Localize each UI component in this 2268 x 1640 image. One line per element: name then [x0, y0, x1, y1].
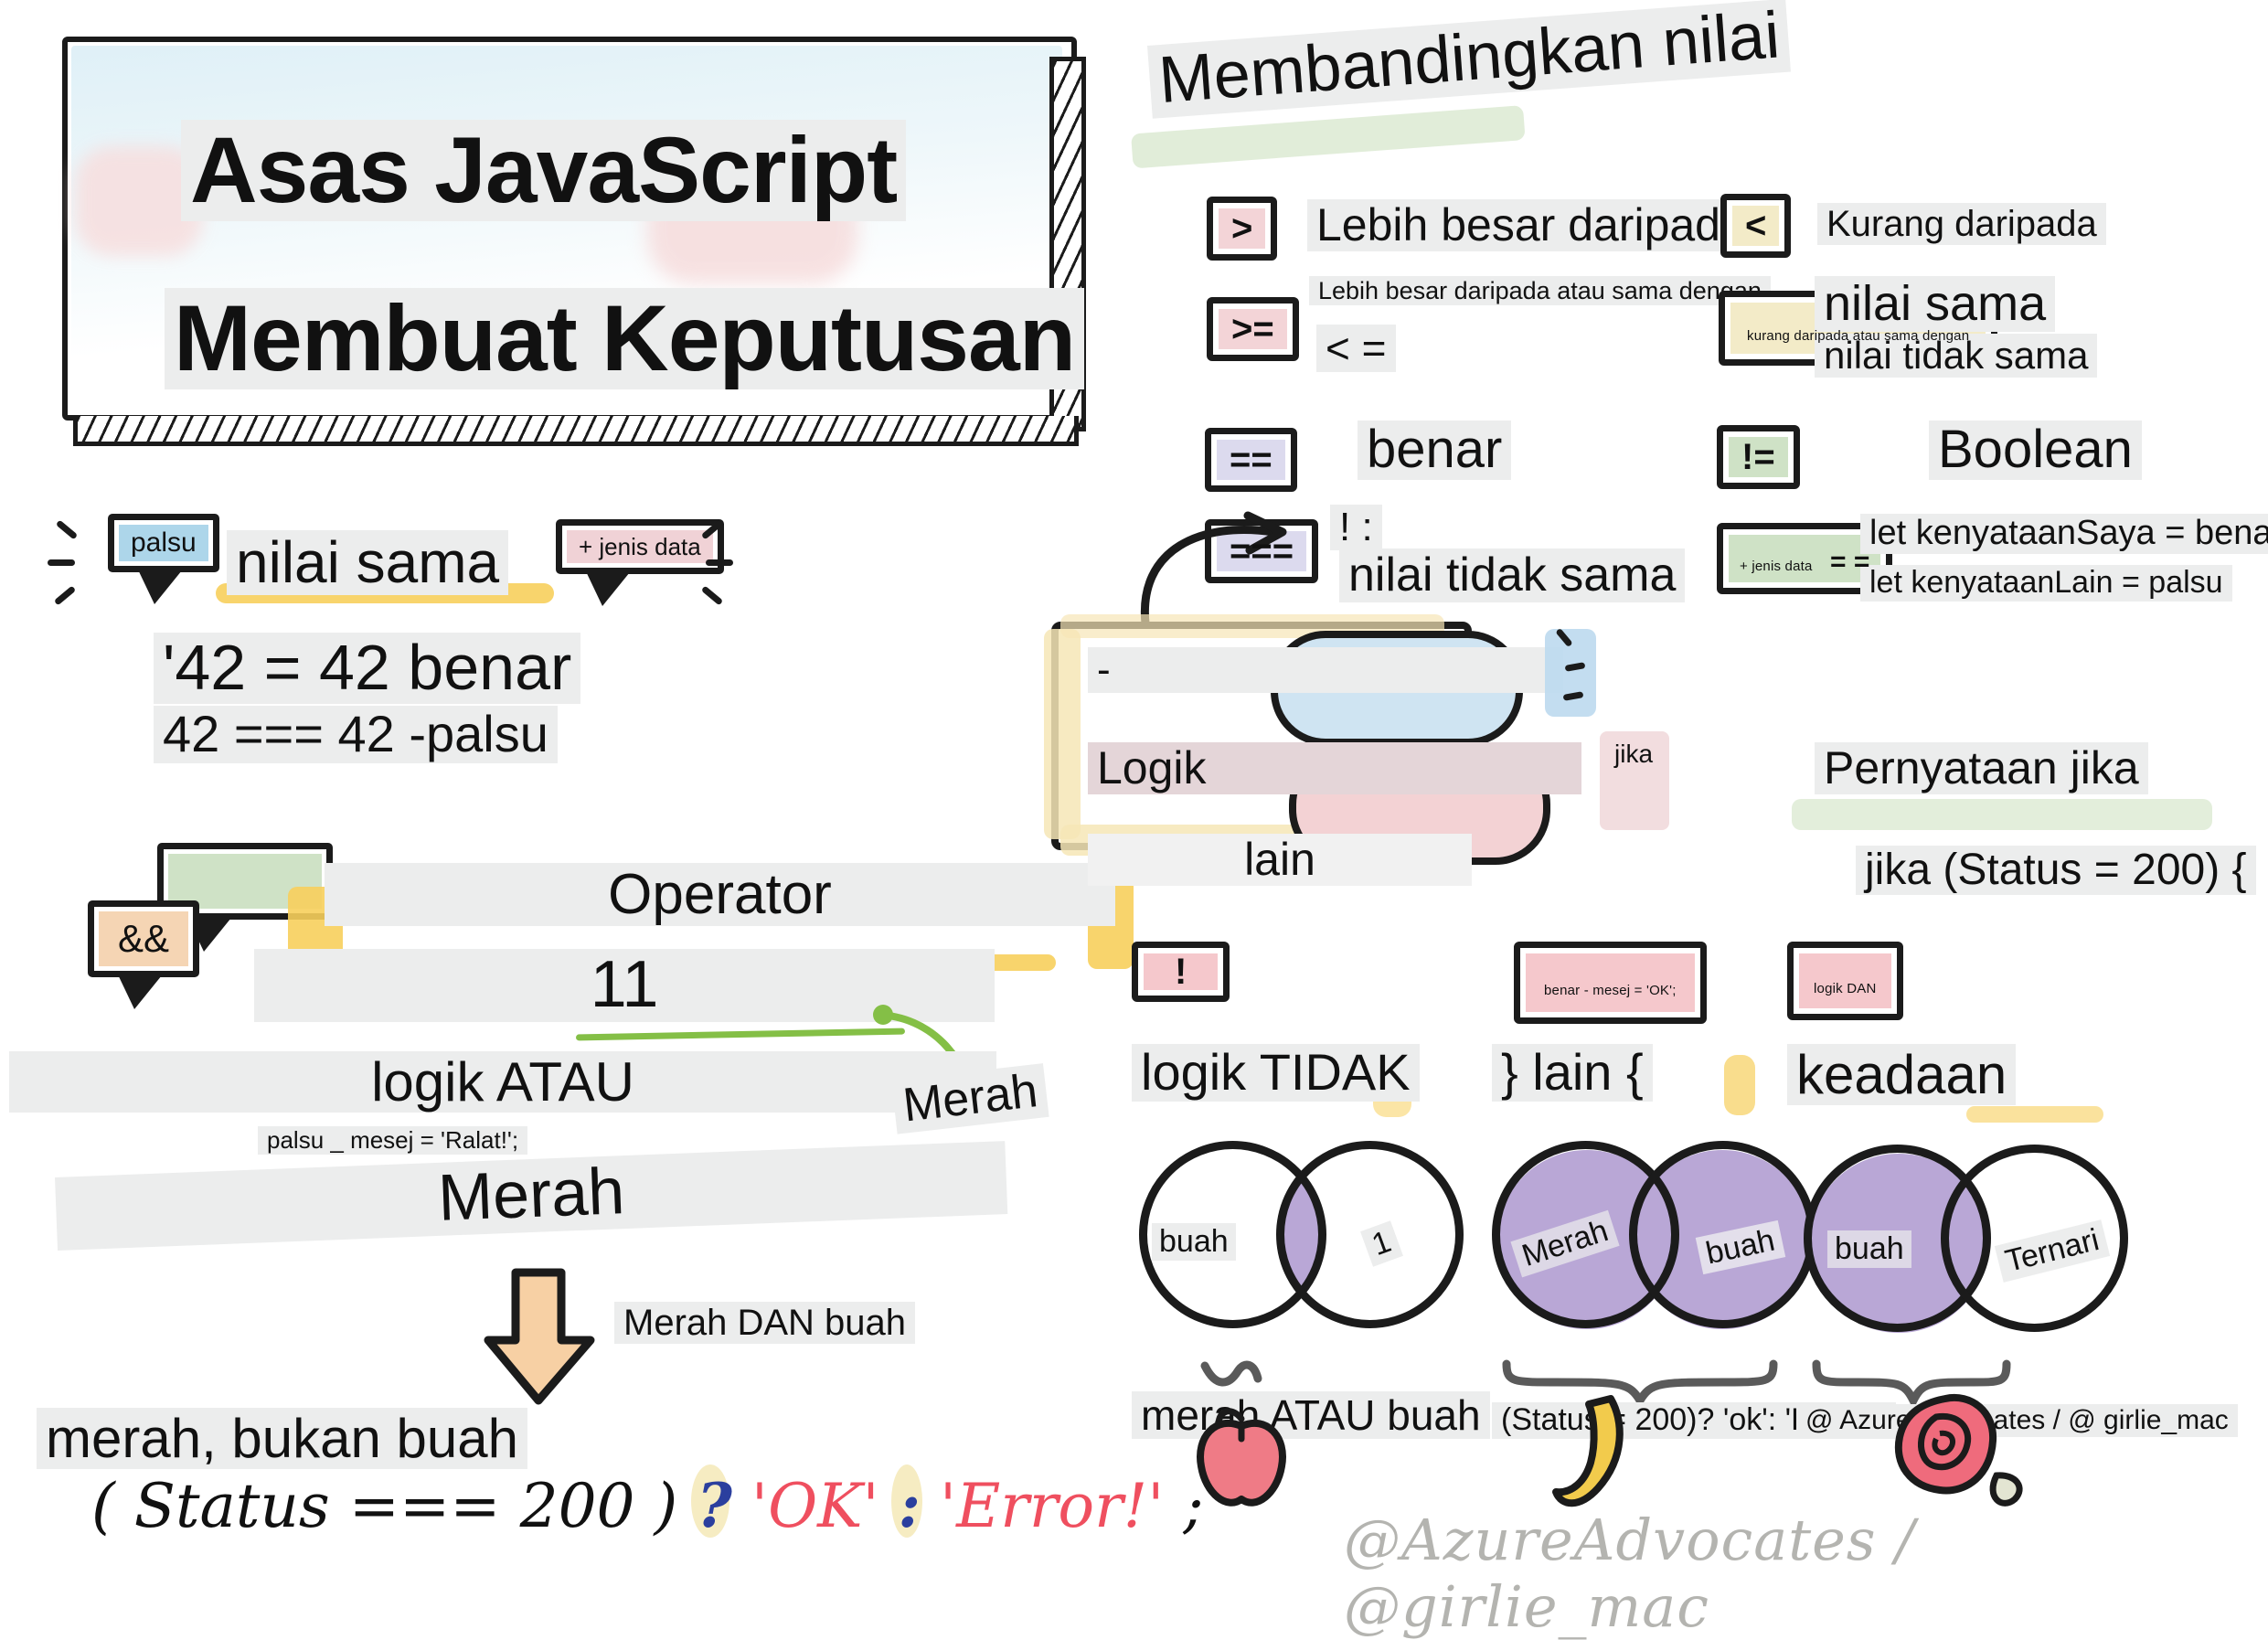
merah-dan-buah-label: Merah DAN buah — [614, 1302, 915, 1344]
boolean-example-true: let kenyataanSaya = benar — [1860, 514, 2268, 554]
operator-chip-loose-equal[interactable]: == — [1205, 428, 1297, 492]
venn-diagram-not: buah 1 — [1139, 1141, 1505, 1333]
greater-equal-icon: >= — [1231, 309, 1274, 349]
watermark: @AzureAdvocates / @girlie_mac — [1344, 1507, 2268, 1640]
logic-box-label: Logik — [1088, 742, 1581, 794]
venn-label-left: buah — [1827, 1230, 1911, 1268]
comparison-label-greater-than: Lebih besar daripada — [1307, 199, 1755, 251]
comparison-label-benar: benar — [1358, 421, 1511, 480]
equality-example-2: 42 === 42 -palsu — [154, 706, 558, 763]
operator-chip-greater-equal[interactable]: >= — [1207, 297, 1299, 361]
ternary-false-value: 'Error!' — [940, 1471, 1164, 1541]
comparison-label-less-equal: < = — [1316, 325, 1396, 372]
operator-chip-else-note[interactable]: benar - mesej = 'OK'; — [1514, 942, 1707, 1024]
operator-chip-not-equal[interactable]: != — [1717, 425, 1800, 489]
ternary-colon: : — [899, 1470, 921, 1541]
logic-lain-label: lain — [1088, 834, 1472, 886]
double-equals-icon: == — [1230, 440, 1272, 480]
sparkle-right-icon — [693, 523, 748, 605]
operator-chip-greater-than[interactable]: > — [1207, 197, 1277, 261]
comparison-label-nilai-sama: nilai sama — [1815, 276, 2055, 332]
not-equal-icon: != — [1741, 437, 1775, 477]
page-title-line-2-text: Membuat Keputusan — [165, 288, 1084, 389]
title-card: Asas JavaScript Membuat Keputusan — [62, 37, 1077, 421]
comparison-label-greater-equal: Lebih besar daripada atau sama dengan — [1309, 276, 1771, 305]
venn-heading-condition: keadaan — [1787, 1044, 2016, 1105]
page-title-line-2: Membuat Keputusan — [165, 285, 1084, 392]
merah-big-label: Merah — [55, 1142, 989, 1251]
venn-heading-not: logik TIDAK — [1132, 1044, 1420, 1102]
merah-bukan-buah-label: merah, bukan buah — [37, 1408, 527, 1469]
comparison-label-boolean: Boolean — [1929, 421, 2142, 480]
venn-diagram-else: Merah buah — [1492, 1141, 1858, 1333]
banana-icon — [1545, 1393, 1664, 1521]
ternary-question-mark: ? — [697, 1470, 732, 1541]
page-title-line-1-text: Asas JavaScript — [181, 120, 906, 221]
logic-box-yellow-left — [1044, 629, 1081, 839]
ternary-expression: ( Status === 200 ) ? 'OK' : 'Error!' ; — [91, 1470, 1204, 1541]
sparkle-left-icon — [48, 523, 102, 605]
comparison-heading: Membandingkan nilai — [1147, 0, 1791, 118]
green-underline — [576, 1028, 905, 1041]
operator-chip-not[interactable]: ! — [1132, 942, 1230, 1002]
greater-than-icon: > — [1231, 208, 1252, 249]
operator-chip-less-equal-note: kurang daripada atau sama dengan — [1747, 328, 1969, 344]
comparison-label-strict-not-equal: nilai tidak sama — [1339, 548, 1685, 602]
if-statement-heading: Pernyataan jika — [1815, 742, 2148, 794]
down-arrow-icon — [483, 1269, 602, 1406]
logic-jika-tag: jika — [1605, 739, 1662, 769]
logic-or-label: logik ATAU — [9, 1051, 978, 1113]
equality-heading: nilai sama — [227, 530, 508, 595]
comparison-label-not-colon: ! : — [1330, 505, 1382, 550]
comparison-heading-text: Membandingkan nilai — [1147, 0, 1791, 118]
if-statement-code: jika (Status = 200) { — [1856, 846, 2256, 895]
triple-equals-icon: === — [1230, 531, 1294, 571]
exclamation-icon: ! — [1175, 952, 1187, 992]
bubble-and-operator[interactable]: && — [88, 900, 199, 977]
less-than-icon: < — [1745, 206, 1766, 246]
ternary-true-value: 'OK' — [751, 1471, 879, 1541]
logic-sparkle-icon — [1543, 629, 1607, 729]
page-title-line-1: Asas JavaScript — [181, 117, 906, 224]
operator-heading: Operator — [325, 863, 1115, 926]
curved-arrow-up-icon — [1138, 512, 1321, 631]
equality-example-1: '42 = 42 benar — [154, 633, 580, 704]
logic-box-top-text: - — [1088, 647, 1563, 693]
operator-chip-less-than[interactable]: < — [1720, 194, 1791, 258]
venn-diagram-condition: buah Ternari — [1804, 1145, 2169, 1336]
operator-chip-boolean-note: + jenis data — [1740, 559, 1813, 574]
ternary-condition: ( Status === 200 ) — [91, 1471, 677, 1541]
boolean-example-false: let kenyataanLain = palsu — [1860, 565, 2232, 602]
venn-label-left: buah — [1152, 1223, 1236, 1261]
title-card-bottom-edge-hatch — [73, 416, 1079, 446]
venn-heading-else: } lain { — [1492, 1044, 1653, 1102]
operator-code-snippet: palsu _ mesej = 'Ralat!'; — [258, 1126, 527, 1155]
if-statement-green-mark — [1792, 799, 2212, 830]
bubble-palsu[interactable]: palsu — [108, 514, 219, 572]
apple-icon — [1188, 1399, 1298, 1518]
operator-chip-and-note[interactable]: logik DAN — [1787, 942, 1903, 1020]
venn-caption-not: merah ATAU buah — [1132, 1391, 1490, 1439]
comparison-label-less-than: Kurang daripada — [1817, 203, 2106, 245]
